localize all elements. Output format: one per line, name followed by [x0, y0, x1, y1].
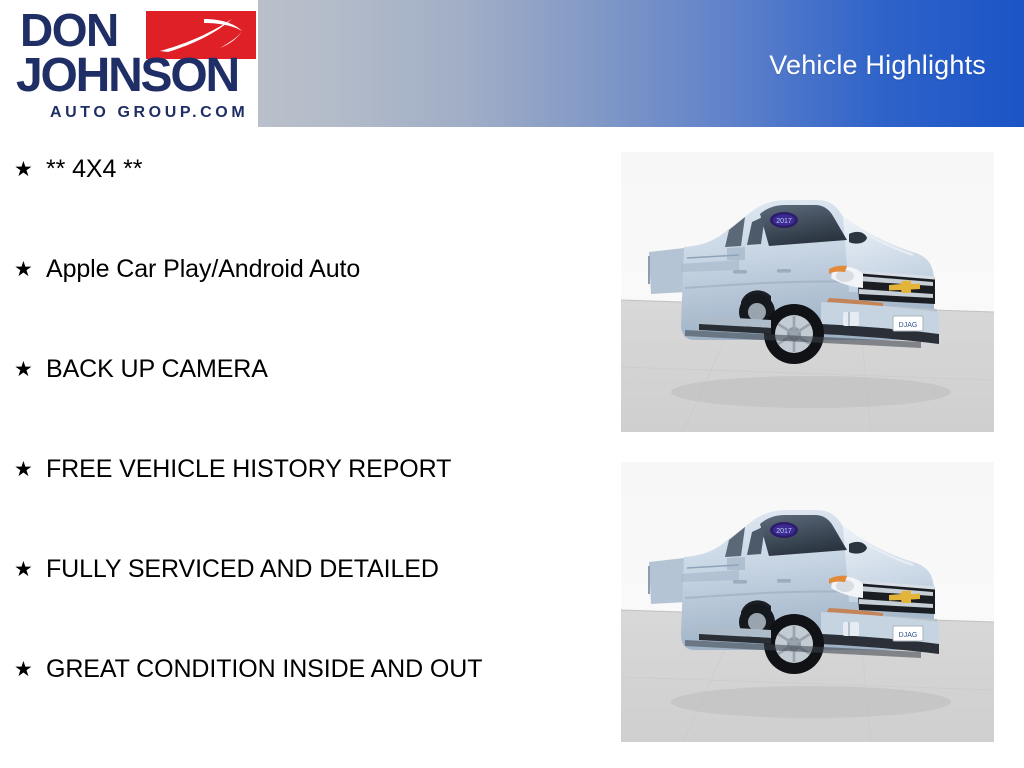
logo-line-johnson: JOHNSON: [16, 50, 238, 102]
star-icon: ★: [14, 553, 46, 587]
list-item: ★ ** 4X4 **: [0, 153, 600, 253]
highlight-text: BACK UP CAMERA: [46, 353, 570, 386]
list-item: ★ Apple Car Play/Android Auto: [0, 253, 600, 353]
svg-text:2017: 2017: [776, 528, 792, 535]
page-header: DON JOHNSON AUTO GROUP.COM Vehicle Highl…: [0, 0, 1024, 127]
page-title: Vehicle Highlights: [769, 50, 986, 80]
star-icon: ★: [14, 153, 46, 187]
star-icon: ★: [14, 253, 46, 287]
logo-line-autogroup: AUTO GROUP.COM: [50, 104, 248, 122]
dealer-logo[interactable]: DON JOHNSON AUTO GROUP.COM: [0, 0, 258, 127]
highlight-text: FULLY SERVICED AND DETAILED: [46, 553, 570, 586]
star-icon: ★: [14, 353, 46, 387]
highlight-text: FREE VEHICLE HISTORY REPORT: [46, 453, 570, 486]
star-icon: ★: [14, 653, 46, 687]
list-item: ★ FULLY SERVICED AND DETAILED: [0, 553, 600, 653]
svg-text:DJAG: DJAG: [899, 322, 918, 329]
highlight-text: ** 4X4 **: [46, 153, 570, 186]
list-item: ★ FREE VEHICLE HISTORY REPORT: [0, 453, 600, 553]
vehicle-photo-1[interactable]: 2017: [621, 152, 994, 432]
vehicle-highlights-page: DON JOHNSON AUTO GROUP.COM Vehicle Highl…: [0, 0, 1024, 768]
highlight-text: Apple Car Play/Android Auto: [46, 253, 570, 286]
highlight-text: GREAT CONDITION INSIDE AND OUT: [46, 653, 570, 686]
logo-wrap: DON JOHNSON AUTO GROUP.COM: [10, 4, 258, 126]
list-item: ★ BACK UP CAMERA: [0, 353, 600, 453]
vehicle-photo-2[interactable]: 2017 DJAG: [621, 462, 994, 742]
svg-text:2017: 2017: [776, 218, 792, 225]
logo-line-don: DON: [20, 6, 118, 54]
highlights-list: ★ ** 4X4 ** ★ Apple Car Play/Android Aut…: [0, 127, 600, 768]
svg-text:DJAG: DJAG: [899, 632, 918, 639]
list-item: ★ GREAT CONDITION INSIDE AND OUT: [0, 653, 600, 753]
star-icon: ★: [14, 453, 46, 487]
